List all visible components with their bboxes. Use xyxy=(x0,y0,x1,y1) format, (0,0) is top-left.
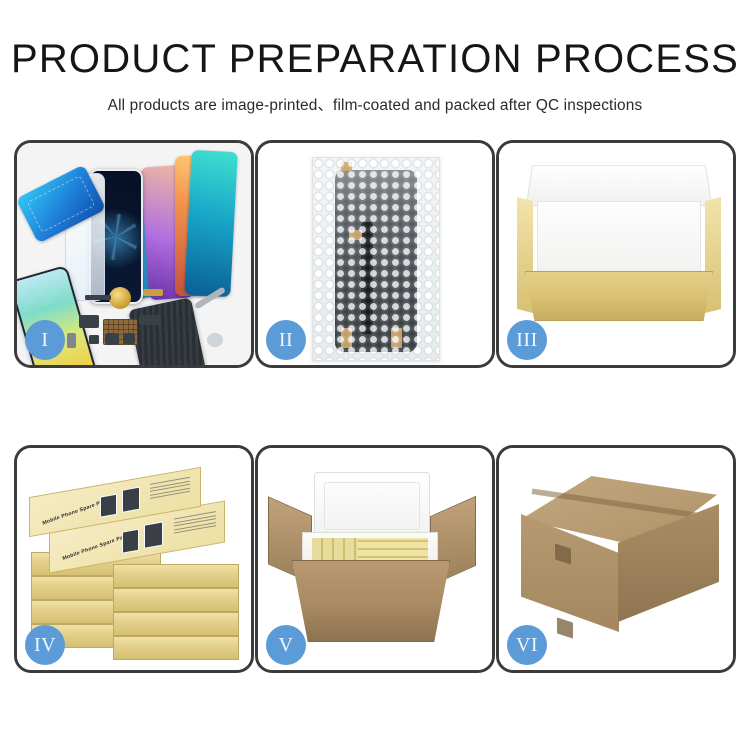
earpiece-part xyxy=(85,295,111,300)
retail-box-window-middle-a xyxy=(122,529,139,554)
phone-teal-gradient xyxy=(184,150,238,297)
flex-cable-part xyxy=(139,315,161,325)
inner-box-front-panel xyxy=(525,271,713,321)
step-badge-5: V xyxy=(266,625,306,665)
process-step-panel-1[interactable]: I xyxy=(14,140,254,368)
product-preparation-process-page: PRODUCT PREPARATION PROCESS All products… xyxy=(0,0,750,750)
button-part xyxy=(105,333,119,345)
step-badge-4: IV xyxy=(25,625,65,665)
tape-bottom-left xyxy=(341,328,352,348)
retail-box-right-1 xyxy=(113,564,239,588)
product-and-parts-illustration: I xyxy=(17,143,251,365)
page-header: PRODUCT PREPARATION PROCESS All products… xyxy=(0,0,750,115)
step-badge-6: VI xyxy=(507,625,547,665)
speaker-module-part xyxy=(109,287,131,309)
retail-box-window-top-a xyxy=(100,494,117,518)
sealed-carton-illustration: VI xyxy=(499,448,733,670)
white-foam-sheet xyxy=(537,201,701,273)
retail-box-right-2 xyxy=(113,588,239,612)
process-step-panel-3[interactable]: III xyxy=(496,140,736,368)
stacked-boxes-illustration: Mobile Phone Spare Parts Mobile Phone Sp… xyxy=(17,448,251,670)
carton-tape-lower xyxy=(557,617,573,638)
tape-bottom-right xyxy=(391,328,402,348)
process-steps-grid: I II xyxy=(14,140,736,673)
retail-box-bullets-top xyxy=(150,477,190,502)
wrapped-phone-screen xyxy=(335,170,417,352)
retail-box-label-middle: Mobile Phone Spare Parts xyxy=(62,532,131,562)
flex-connector-part xyxy=(143,289,163,296)
retail-box-bullets-middle xyxy=(174,511,216,536)
process-step-panel-5[interactable]: V xyxy=(255,445,495,673)
sim-tray-part xyxy=(123,333,135,344)
step-badge-1: I xyxy=(25,320,65,360)
vibrator-part xyxy=(89,335,99,344)
retail-box-right-4 xyxy=(113,636,239,660)
tape-middle xyxy=(349,230,362,240)
retail-box-window-top-b xyxy=(122,487,140,513)
battery-part xyxy=(67,333,76,348)
process-step-panel-2[interactable]: II xyxy=(255,140,495,368)
camera-module-part xyxy=(79,315,99,328)
tape-top xyxy=(341,162,352,171)
inner-box-lid xyxy=(526,165,712,206)
page-title: PRODUCT PREPARATION PROCESS xyxy=(0,38,750,81)
page-subtitle: All products are image-printed、film-coat… xyxy=(0,93,750,115)
retail-box-window-middle-b xyxy=(144,521,163,548)
retail-box-right-3 xyxy=(113,612,239,636)
wrapped-flex-cable xyxy=(361,222,373,334)
step-badge-3: III xyxy=(507,320,547,360)
styrofoam-carton-illustration: V xyxy=(258,448,492,670)
foam-lined-box-illustration: III xyxy=(499,143,733,365)
bubble-wrapped-screen-illustration: II xyxy=(258,143,492,365)
styrofoam-lid xyxy=(314,472,430,540)
phone-back-housing xyxy=(128,297,206,368)
screw-set-part xyxy=(207,333,223,347)
bubble-wrap-bag xyxy=(312,157,440,361)
carton-body xyxy=(292,560,450,642)
process-step-panel-6[interactable]: VI xyxy=(496,445,736,673)
process-step-panel-4[interactable]: Mobile Phone Spare Parts Mobile Phone Sp… xyxy=(14,445,254,673)
step-badge-2: II xyxy=(266,320,306,360)
